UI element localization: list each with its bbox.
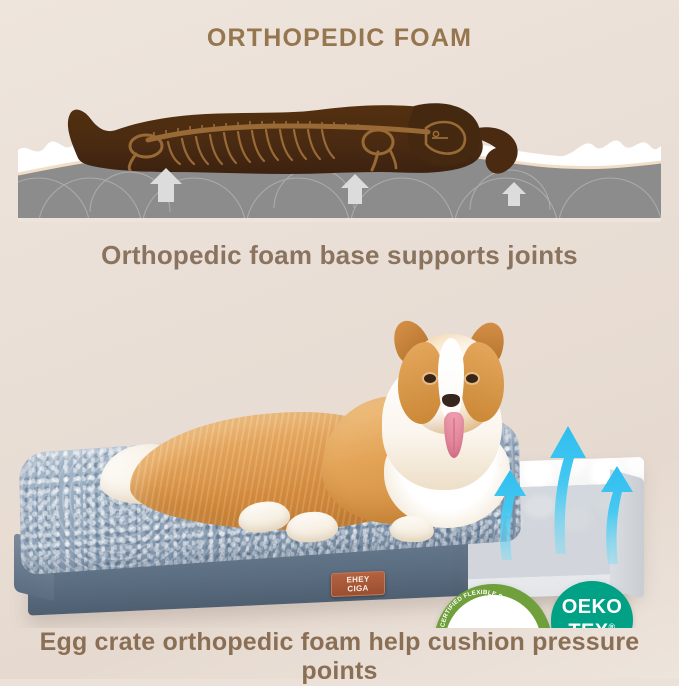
dog-cheek-left bbox=[398, 342, 444, 424]
oeko-line1: OEKO bbox=[562, 597, 623, 617]
orthopedic-foam-cross-section-diagram bbox=[18, 80, 661, 232]
dog-eye-right bbox=[466, 374, 478, 383]
oeko-line2: TEX® bbox=[568, 617, 615, 628]
product-photo: EHEY CIGA bbox=[0, 288, 679, 628]
product-feature-graphic: ORTHOPEDIC FOAM bbox=[0, 0, 679, 679]
dog-eye-left bbox=[424, 374, 436, 383]
brand-tag: EHEY CIGA bbox=[331, 571, 385, 597]
caption-top: Orthopedic foam base supports joints bbox=[0, 240, 679, 271]
brand-tag-line2: CIGA bbox=[347, 584, 368, 594]
page-title: ORTHOPEDIC FOAM bbox=[0, 24, 679, 53]
caption-bottom: Egg crate orthopedic foam help cushion p… bbox=[0, 628, 679, 686]
svg-text:CONTAINS CERTIFIED FLEXIBLE PO: CONTAINS CERTIFIED FLEXIBLE POLYURETHANE… bbox=[434, 584, 525, 628]
airflow-arrow bbox=[494, 426, 633, 564]
certipur-ring-text: CONTAINS CERTIFIED FLEXIBLE POLYURETHANE… bbox=[434, 584, 530, 628]
airflow-arrows bbox=[480, 384, 650, 584]
diagram-floor-line bbox=[18, 218, 661, 222]
